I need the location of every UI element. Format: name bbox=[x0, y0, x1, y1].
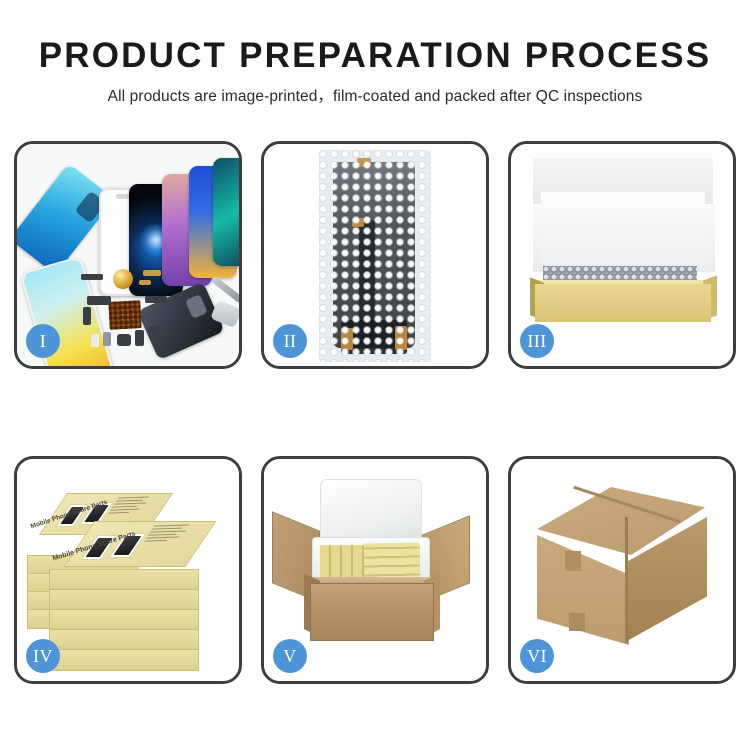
shipping-box-tape-lower bbox=[569, 613, 585, 631]
process-step-panel-1[interactable]: I bbox=[14, 141, 242, 369]
shipping-box-vertical-edge bbox=[625, 517, 628, 643]
page-header: PRODUCT PREPARATION PROCESS All products… bbox=[0, 0, 750, 106]
spare-part-cable bbox=[83, 307, 91, 325]
page-title: PRODUCT PREPARATION PROCESS bbox=[0, 38, 750, 75]
process-step-grid: I II bbox=[14, 141, 736, 684]
process-step-panel-3[interactable]: III bbox=[508, 141, 736, 369]
tape-middle bbox=[352, 218, 364, 227]
stacked-box bbox=[49, 649, 199, 671]
stacked-box bbox=[49, 629, 199, 651]
page-subtitle: All products are image-printed，film-coat… bbox=[0, 84, 750, 106]
stacked-box bbox=[49, 569, 199, 591]
spare-part-bracket bbox=[87, 296, 111, 305]
spare-part-button bbox=[135, 330, 144, 346]
tape-bottom-left bbox=[341, 328, 353, 350]
spare-part-camera bbox=[149, 326, 160, 339]
spare-part-connector bbox=[143, 270, 161, 276]
screen-flex-cable bbox=[359, 220, 375, 338]
step-badge-4: IV bbox=[26, 639, 60, 673]
wireless-charging-coil-part bbox=[113, 269, 133, 289]
lcd-screen-assembly bbox=[333, 162, 415, 348]
step-badge-2: II bbox=[273, 324, 307, 358]
screen-connector-block bbox=[341, 320, 407, 354]
spare-part-sim-tray bbox=[91, 334, 99, 347]
process-step-panel-6[interactable]: VI bbox=[508, 456, 736, 684]
process-step-panel-4[interactable]: Mobile Phone Spare Parts Mobile Phone Sp… bbox=[14, 456, 242, 684]
step-badge-1: I bbox=[26, 324, 60, 358]
spare-part-flex bbox=[139, 280, 151, 285]
bubble-wrap-bag bbox=[319, 150, 431, 362]
stacked-box bbox=[49, 589, 199, 611]
spare-part-ribbon bbox=[145, 296, 167, 303]
stacked-box bbox=[49, 609, 199, 631]
tape-top bbox=[357, 158, 371, 167]
box-inner-wall bbox=[541, 192, 705, 270]
process-step-panel-2[interactable]: II bbox=[261, 141, 489, 369]
spare-part-speaker bbox=[117, 334, 131, 346]
spare-part-strip bbox=[81, 274, 103, 280]
shipping-box-tape-upper bbox=[565, 551, 581, 571]
spare-part-screwpost bbox=[103, 332, 111, 346]
step-badge-6: VI bbox=[520, 639, 554, 673]
step-badge-5: V bbox=[273, 639, 307, 673]
process-step-panel-5[interactable]: V bbox=[261, 456, 489, 684]
carton-body-front bbox=[310, 583, 434, 641]
box-front-face bbox=[535, 284, 711, 322]
step-badge-3: III bbox=[520, 324, 554, 358]
tape-bottom-right bbox=[395, 326, 407, 350]
phone-gradient-teal bbox=[213, 158, 239, 266]
logic-board-part bbox=[108, 300, 141, 330]
